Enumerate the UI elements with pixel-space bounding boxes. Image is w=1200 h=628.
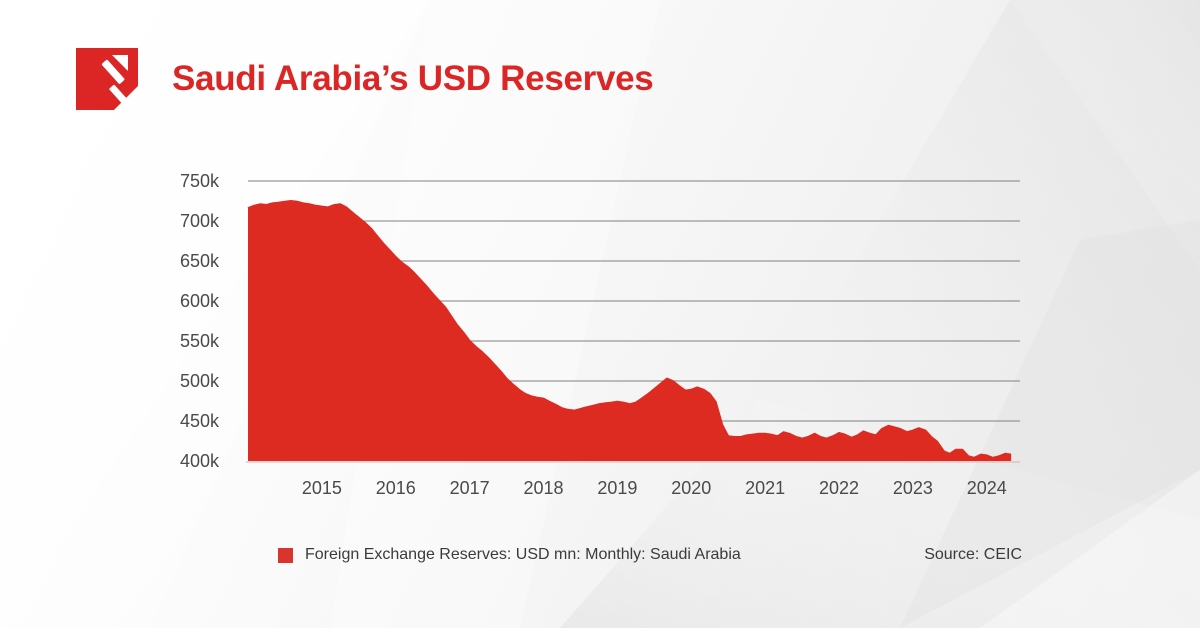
source-label: Source: CEIC <box>924 546 1022 564</box>
y-tick-label: 700k <box>180 211 220 231</box>
y-tick-label: 750k <box>180 171 220 191</box>
y-tick-label: 550k <box>180 331 220 351</box>
x-tick-label: 2024 <box>967 478 1007 498</box>
y-tick-label: 650k <box>180 251 220 271</box>
y-tick-label: 400k <box>180 451 220 471</box>
legend-entry: Foreign Exchange Reserves: USD mn: Month… <box>278 546 741 564</box>
series-area-group <box>246 201 1020 462</box>
y-axis-tick-labels: 400k450k500k550k600k650k700k750k <box>180 171 220 471</box>
y-tick-label: 500k <box>180 371 220 391</box>
area-chart: 400k450k500k550k600k650k700k750k 2015201… <box>0 0 1200 628</box>
x-tick-label: 2023 <box>893 478 933 498</box>
x-tick-label: 2021 <box>745 478 785 498</box>
x-tick-label: 2017 <box>450 478 490 498</box>
x-tick-label: 2018 <box>523 478 563 498</box>
chart-container: 400k450k500k550k600k650k700k750k 2015201… <box>0 0 1200 628</box>
x-tick-label: 2020 <box>671 478 711 498</box>
x-tick-label: 2015 <box>302 478 342 498</box>
legend-label: Foreign Exchange Reserves: USD mn: Month… <box>305 546 741 564</box>
chart-footer: Foreign Exchange Reserves: USD mn: Month… <box>278 546 1022 564</box>
series-area <box>248 201 1011 461</box>
x-tick-label: 2022 <box>819 478 859 498</box>
y-tick-label: 600k <box>180 291 220 311</box>
x-tick-label: 2019 <box>597 478 637 498</box>
x-axis-tick-labels: 2015201620172018201920202021202220232024 <box>302 478 1007 498</box>
x-tick-label: 2016 <box>376 478 416 498</box>
legend-swatch-icon <box>278 548 293 563</box>
y-tick-label: 450k <box>180 411 220 431</box>
